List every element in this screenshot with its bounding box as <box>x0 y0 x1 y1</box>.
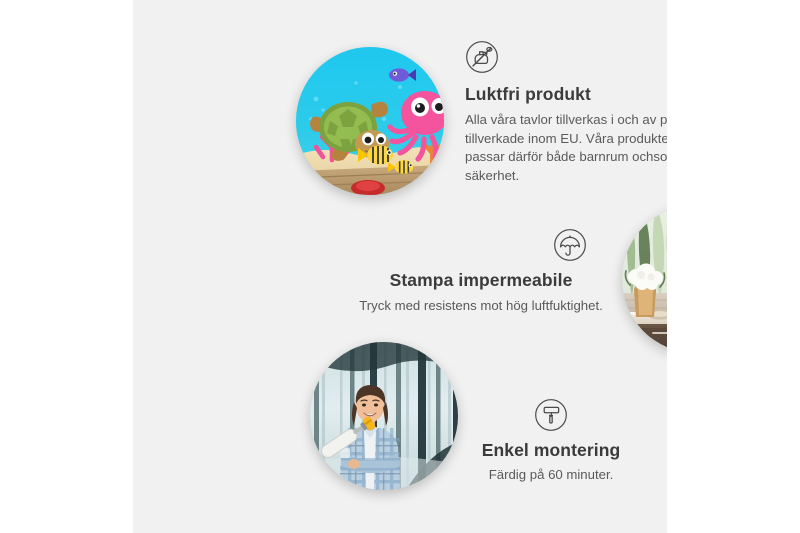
feature-enkel-montering: Enkel montering Färdig på 60 minuter. <box>451 398 651 485</box>
umbrella-icon <box>553 228 587 262</box>
no-odour-spray-bottle-icon <box>465 40 499 74</box>
paint-roller-icon <box>534 398 568 432</box>
feature-body: Färdig på 60 minuter. <box>451 466 651 485</box>
bathroom-photo-illustration <box>622 205 667 353</box>
page-root: Luktfri produkt Alla våra tavlor tillver… <box>0 0 800 533</box>
feature-stampa-impermeabile: Stampa impermeabile Tryck med resistens … <box>347 228 615 316</box>
underwater-cartoon-illustration <box>296 47 444 195</box>
bathroom-tropical-wallpaper-circle <box>622 205 667 353</box>
feature-title: Stampa impermeabile <box>347 270 615 292</box>
feature-body: Tryck med resistens mot hög luftfuktighe… <box>347 297 615 316</box>
feature-title: Enkel montering <box>451 440 651 462</box>
woman-forest-photo-illustration <box>310 342 458 490</box>
underwater-cartoon-circle <box>296 47 444 195</box>
feature-luktfri-produkt: Luktfri produkt Alla våra tavlor tillver… <box>465 40 667 186</box>
feature-body: Alla våra tavlor tillverkas i och av pro… <box>465 111 667 186</box>
content-panel: Luktfri produkt Alla våra tavlor tillver… <box>133 0 667 533</box>
feature-title: Luktfri produkt <box>465 84 667 106</box>
woman-paint-roller-forest-circle <box>310 342 458 490</box>
